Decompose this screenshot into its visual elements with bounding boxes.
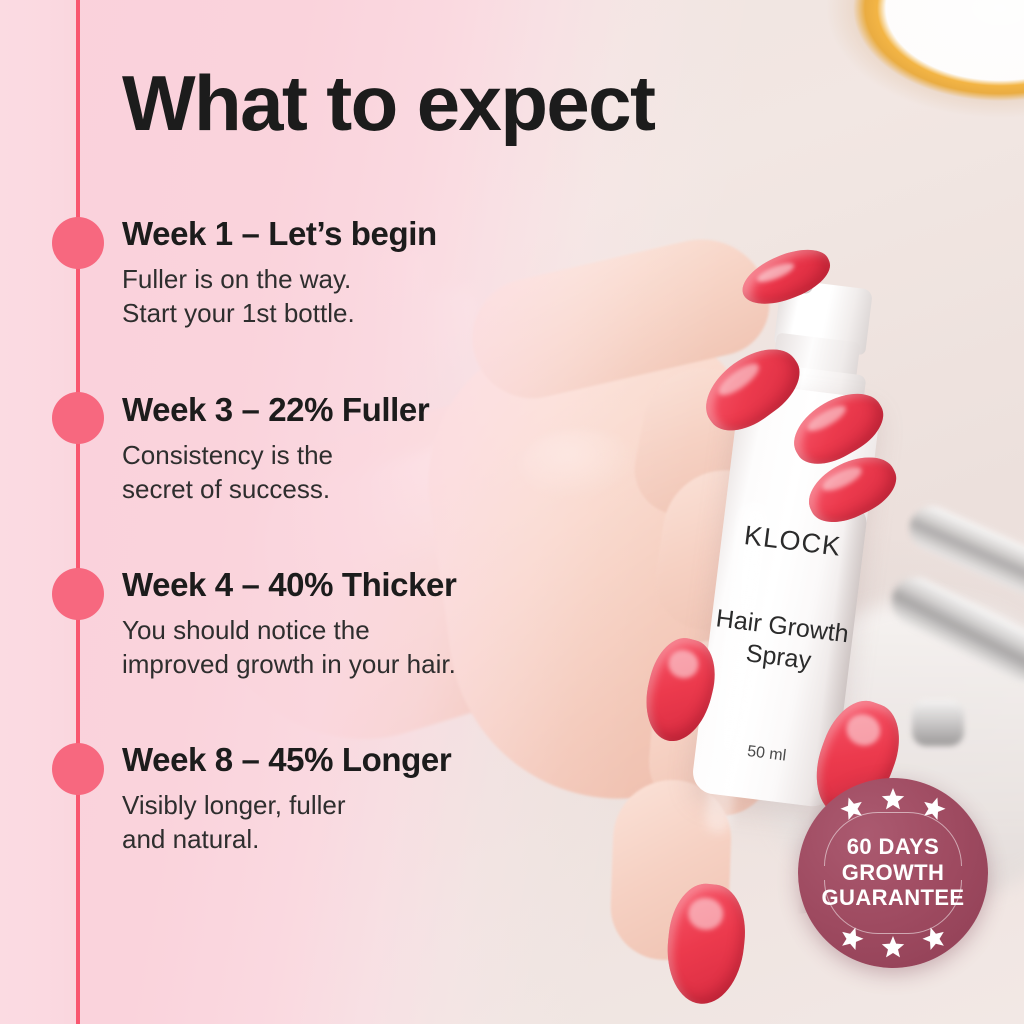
timeline-dot-week-3 [52,392,104,444]
timeline-item-title: Week 3 – 22% Fuller [122,392,429,429]
timeline-dot-week-4 [52,568,104,620]
timeline-item-body: You should notice the improved growth in… [122,614,456,682]
timeline-item-body: Consistency is the secret of success. [122,439,429,507]
timeline-dot-week-1 [52,217,104,269]
star-icon [881,787,905,811]
timeline-item-title: Week 4 – 40% Thicker [122,567,456,604]
timeline-item-title: Week 8 – 45% Longer [122,742,451,779]
guarantee-badge: 60 DAYS GROWTH GUARANTEE [798,778,988,968]
star-icon [881,935,905,959]
timeline-item-week-3: Week 3 – 22% Fuller Consistency is the s… [122,392,429,507]
timeline-item-body: Visibly longer, fuller and natural. [122,789,451,857]
timeline-item-week-4: Week 4 – 40% Thicker You should notice t… [122,567,456,682]
timeline-item-week-1: Week 1 – Let’s begin Fuller is on the wa… [122,216,437,331]
left-pink-panel [0,0,78,1024]
page-title: What to expect [122,64,654,142]
promo-image: KLOCK Hair Growth Spray 50 ml What to ex… [0,0,1024,1024]
timeline-item-body: Fuller is on the way. Start your 1st bot… [122,263,437,331]
timeline-item-title: Week 1 – Let’s begin [122,216,437,253]
timeline-line [76,0,80,1024]
timeline-dot-week-8 [52,743,104,795]
timeline-item-week-8: Week 8 – 45% Longer Visibly longer, full… [122,742,451,857]
